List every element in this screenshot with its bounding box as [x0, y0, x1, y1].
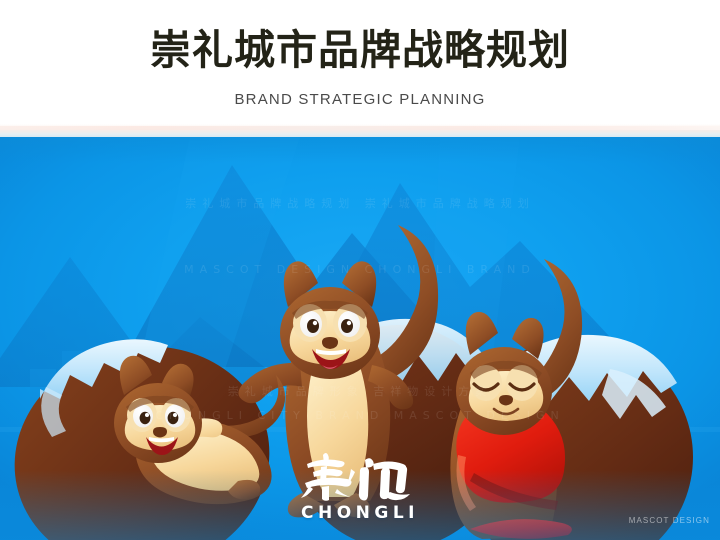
header-divider-accent	[0, 126, 720, 130]
chongli-calligraphy-mark	[297, 450, 423, 502]
brand-logo: CHONGLI	[264, 450, 456, 523]
stage-top-fade	[0, 137, 720, 163]
brand-logo-latin: CHONGLI	[264, 503, 456, 523]
presentation-slide: 崇礼城市品牌战略规划 BRAND STRATEGIC PLANNING	[0, 0, 720, 540]
page-subtitle: BRAND STRATEGIC PLANNING	[0, 91, 720, 109]
credit-label: MASCOT DESIGN	[560, 516, 710, 525]
page-title: 崇礼城市品牌战略规划	[0, 26, 720, 74]
slide-header: 崇礼城市品牌战略规划 BRAND STRATEGIC PLANNING	[0, 0, 720, 137]
